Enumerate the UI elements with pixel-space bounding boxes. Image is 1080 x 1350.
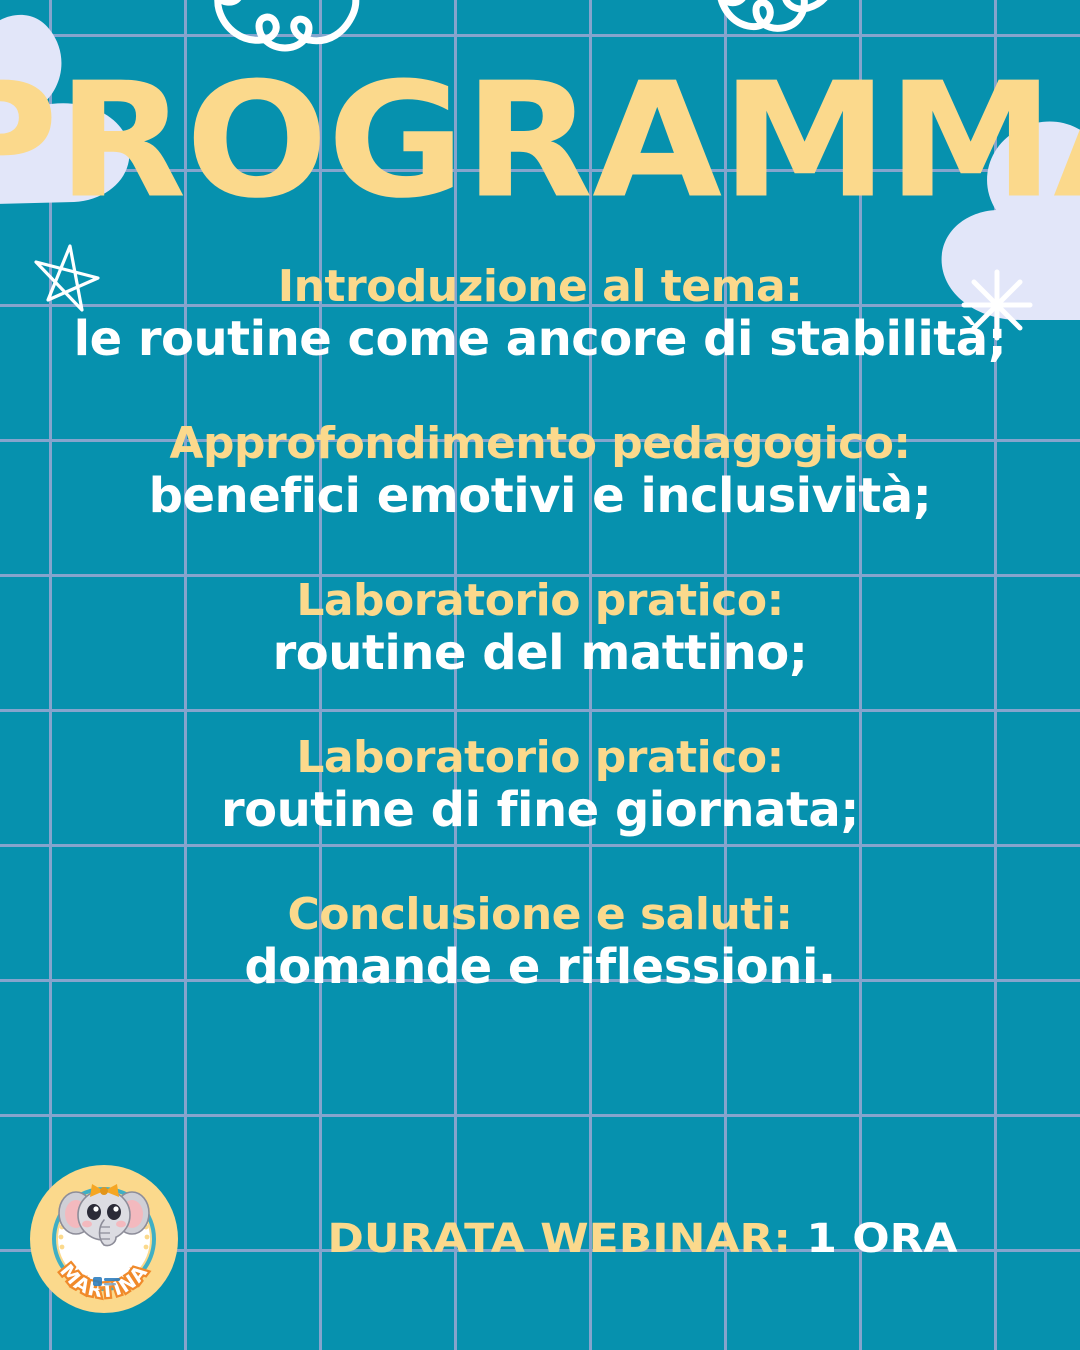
- program-item-heading: Introduzione al tema:: [0, 262, 1080, 312]
- program-item: Conclusione e saluti: domande e riflessi…: [0, 890, 1080, 995]
- webinar-duration: DURATA WEBINAR: 1 ORA: [161, 1216, 1080, 1262]
- program-item-heading: Laboratorio pratico:: [0, 733, 1080, 783]
- program-item: Approfondimento pedagogico: benefici emo…: [0, 419, 1080, 524]
- program-item: Laboratorio pratico: routine del mattino…: [0, 576, 1080, 681]
- duration-label: DURATA WEBINAR:: [327, 1216, 791, 1262]
- program-item-detail: domande e riflessioni.: [0, 940, 1080, 995]
- program-list: Introduzione al tema: le routine come an…: [0, 262, 1080, 994]
- program-item-detail: le routine come ancore di stabilità;: [0, 312, 1080, 367]
- program-item-detail: routine di fine giornata;: [0, 783, 1080, 838]
- program-item: Laboratorio pratico: routine di fine gio…: [0, 733, 1080, 838]
- program-item-heading: Conclusione e saluti:: [0, 890, 1080, 940]
- program-item-detail: benefici emotivi e inclusività;: [0, 469, 1080, 524]
- program-item-heading: Laboratorio pratico:: [0, 576, 1080, 626]
- duration-value: 1 ORA: [806, 1216, 957, 1262]
- program-item: Introduzione al tema: le routine come an…: [0, 262, 1080, 367]
- poster-canvas: PROGRAMMA Introduzione al tema: le routi…: [0, 0, 1080, 1350]
- squiggle-doodle-right: [700, 0, 890, 50]
- program-item-heading: Approfondimento pedagogico:: [0, 419, 1080, 469]
- program-item-detail: routine del mattino;: [0, 626, 1080, 681]
- page-title: PROGRAMMA: [0, 62, 1080, 221]
- brand-logo-badge: MARTINA: [30, 1165, 178, 1313]
- squiggle-doodle-left: [205, 0, 415, 56]
